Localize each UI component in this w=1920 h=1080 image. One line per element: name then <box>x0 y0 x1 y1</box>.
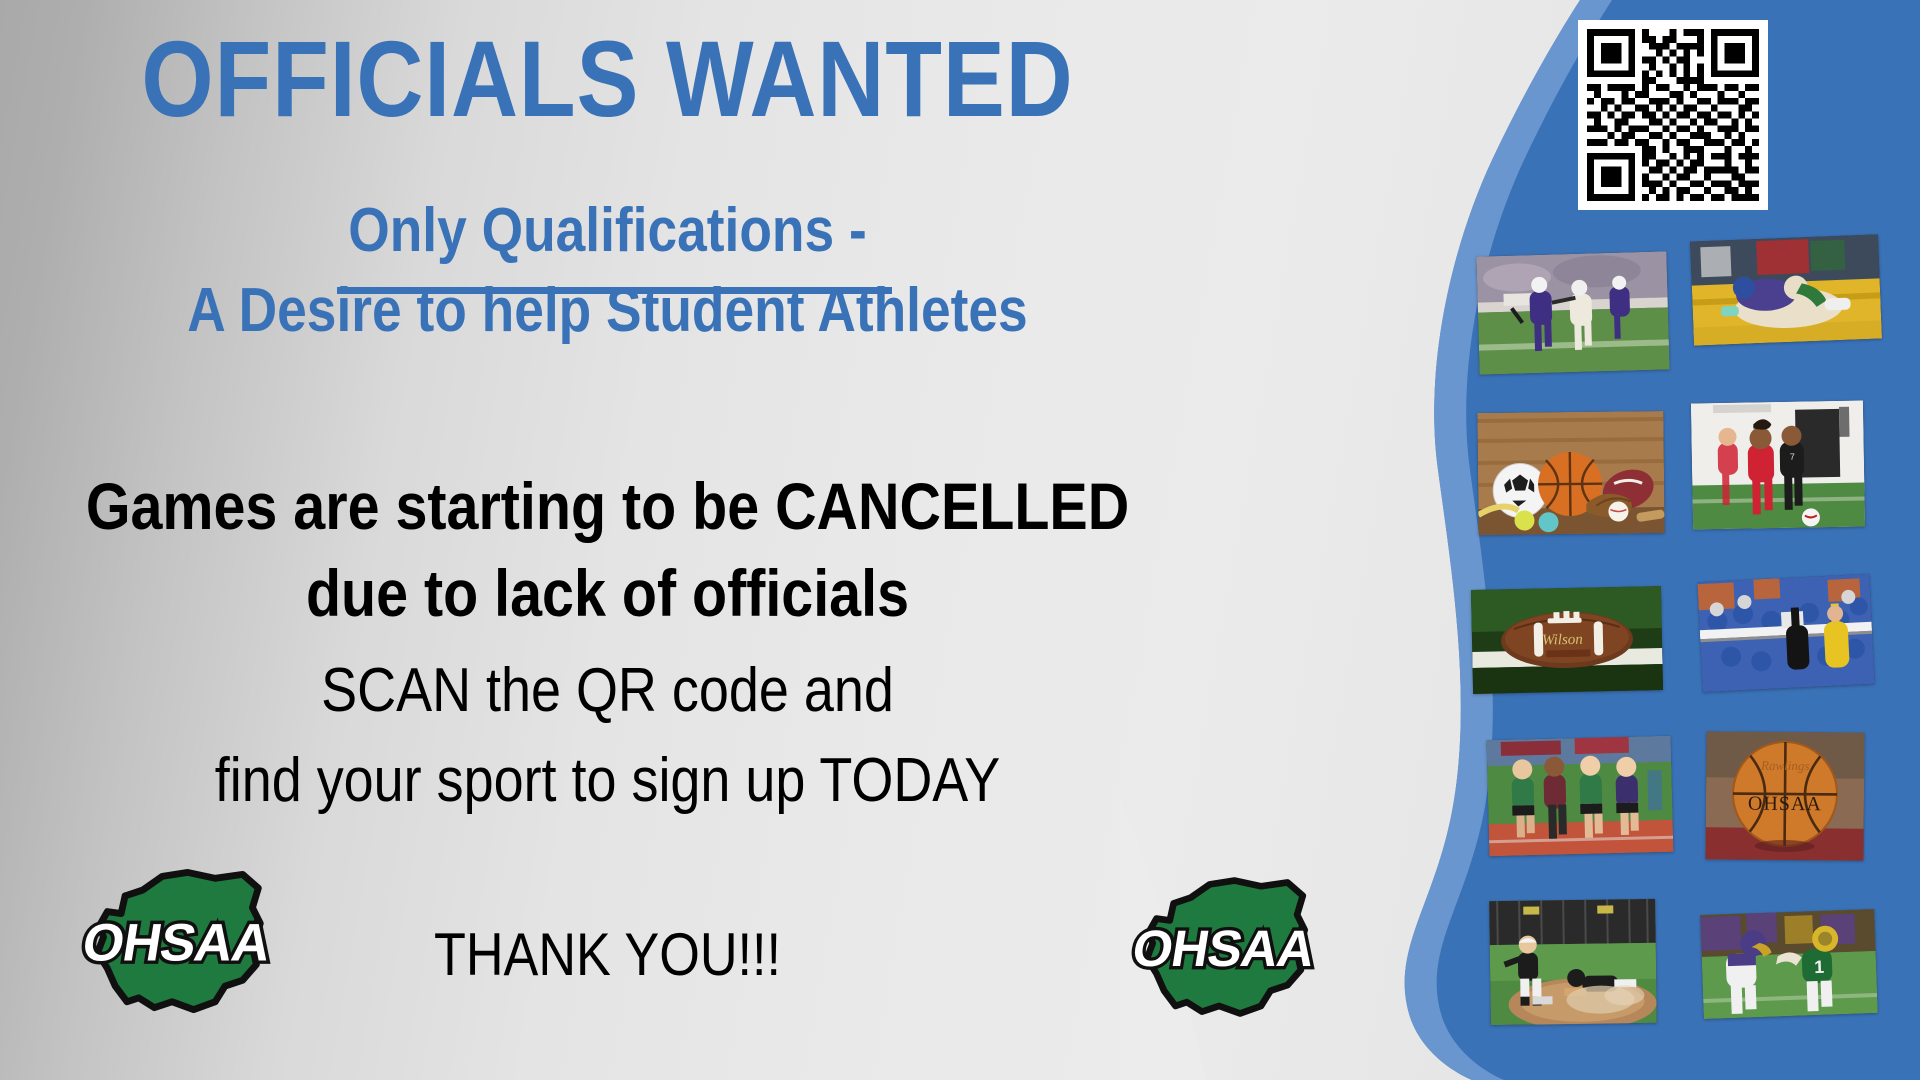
svg-text:1: 1 <box>1814 957 1825 977</box>
ohsaa-ohio-shape-icon: OHSAA <box>1128 870 1318 1026</box>
page-title: OFFICIALS WANTED <box>85 22 1130 135</box>
body-line-2: due to lack of officials <box>79 555 1136 631</box>
photo-volleyball <box>1697 574 1874 692</box>
photo-football-game: 1 <box>1700 909 1878 1019</box>
svg-text:OHSAA: OHSAA <box>1748 793 1822 816</box>
ohsaa-logo-left: OHSAA <box>78 862 274 1022</box>
subhead-line-1: Only Qualifications - <box>85 195 1130 266</box>
body-line-3: SCAN the QR code and <box>79 655 1136 726</box>
photo-soccer: 7 <box>1691 401 1865 530</box>
photo-baseball <box>1489 899 1657 1025</box>
photo-sports-balls <box>1477 411 1664 535</box>
body-line-4: find your sport to sign up TODAY <box>79 745 1136 816</box>
ohsaa-logo-text-right: OHSAA <box>1129 919 1318 977</box>
ohsaa-logo-text-left: OHSAA <box>79 914 274 973</box>
photo-lacrosse <box>1476 251 1669 374</box>
subhead-line-2: A Desire to help Student Athletes <box>85 275 1130 346</box>
ohsaa-logo-right: OHSAA <box>1128 870 1318 1026</box>
photo-football-ball: Wilson <box>1471 586 1663 694</box>
svg-text:7: 7 <box>1790 452 1795 462</box>
qr-code-panel[interactable] <box>1578 20 1768 210</box>
qr-code[interactable] <box>1587 29 1759 201</box>
ohsaa-ohio-shape-icon: OHSAA <box>78 862 274 1022</box>
photo-basketball: OHSAA Rawlings <box>1705 731 1864 860</box>
officials-wanted-flyer: 7 <box>0 0 1920 1080</box>
svg-text:Wilson: Wilson <box>1542 632 1583 649</box>
svg-text:Rawlings: Rawlings <box>1760 758 1810 773</box>
photo-wrestling <box>1690 234 1882 345</box>
body-line-1: Games are starting to be CANCELLED <box>79 468 1136 544</box>
photo-track <box>1487 736 1674 856</box>
